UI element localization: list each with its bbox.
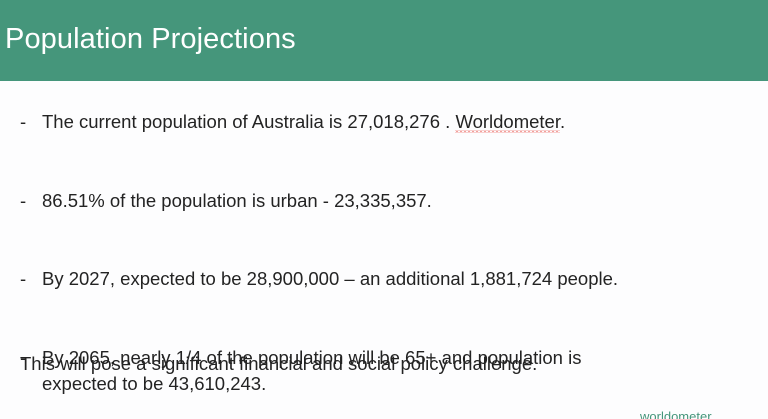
list-item-text-tail: . xyxy=(560,111,565,132)
list-item-line: The current population of Australia is 2… xyxy=(42,109,768,135)
title-banner: Population Projections xyxy=(0,0,768,81)
slide: Population Projections - The current pop… xyxy=(0,0,768,419)
bullet-marker: - xyxy=(20,266,36,292)
bullet-marker: - xyxy=(20,109,36,135)
bullet-list: - The current population of Australia is… xyxy=(0,81,768,211)
list-item-text: By 2027, expected to be 28,900,000 – an … xyxy=(42,266,768,292)
footer-hyperlink[interactable]: worldometer xyxy=(640,409,712,419)
misspelled-word[interactable]: Worldometer xyxy=(455,111,560,134)
list-item[interactable]: - The current population of Australia is… xyxy=(0,109,768,135)
slide-body: - The current population of Australia is… xyxy=(0,81,768,419)
list-item-text: 86.51% of the population is urban - 23,3… xyxy=(42,188,768,214)
list-item[interactable]: - 86.51% of the population is urban - 23… xyxy=(0,188,768,214)
closing-paragraph: This will pose a significant financial a… xyxy=(20,351,537,377)
list-item[interactable]: - By 2027, expected to be 28,900,000 – a… xyxy=(0,266,768,292)
bullet-marker: - xyxy=(20,188,36,214)
list-item-text: The current population of Australia is 2… xyxy=(42,111,455,132)
page-title: Population Projections xyxy=(5,22,296,56)
